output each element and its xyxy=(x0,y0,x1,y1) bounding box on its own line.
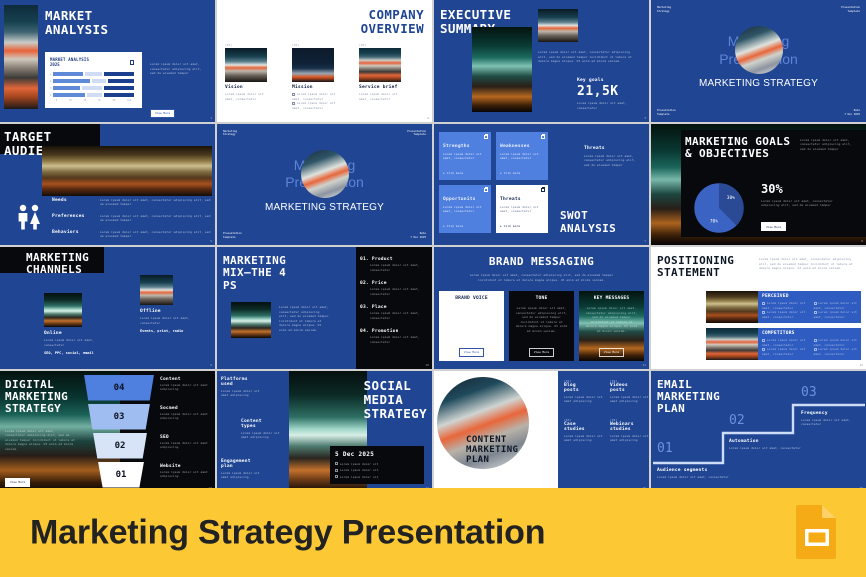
step-text: Lorem ipsum dolor sit amet, consectetur xyxy=(801,418,865,427)
google-slides-icon[interactable] xyxy=(794,503,840,563)
step-number: 02 xyxy=(115,441,126,451)
row-text: Lorem ipsum dolor sit amet, consectetur … xyxy=(100,230,212,239)
swot-side: Threats Lorem ipsum dolor sit amet, cons… xyxy=(584,146,642,168)
item-label: Place xyxy=(372,305,387,310)
overview-item: [01] Vision Lorem ipsum dolor sit amet, … xyxy=(225,43,280,110)
audience-row: Preferences Lorem ipsum dolor sit amet, … xyxy=(52,214,212,223)
body-text: Lorem ipsum dolor sit amet, consectetur … xyxy=(5,429,75,452)
slide-thumbnail-executive-summary[interactable]: EXECUTIVE SUMMARY Lorem ipsum dolor sit … xyxy=(434,0,649,122)
item-number: 02. xyxy=(360,281,369,286)
photo-placeholder xyxy=(225,48,267,82)
item-number: [01] xyxy=(225,43,280,47)
external-link-icon[interactable] xyxy=(130,60,135,65)
page-number: 9 xyxy=(210,363,212,367)
body-text: Lorem ipsum dolor sit amet, consectetur … xyxy=(800,138,858,152)
positioning-row[interactable]: COMPETITORS Lorem ipsum dolor sit amet, … xyxy=(706,328,861,360)
item-label: Mission xyxy=(292,85,347,90)
funnel-step: 02 SEO Lorem ipsum dolor sit amet adipis… xyxy=(84,433,214,459)
footer-right: Date 7 Dec 2025 xyxy=(844,109,860,117)
side-heading: Threats xyxy=(584,146,642,151)
view-more-button[interactable]: View More xyxy=(5,468,30,487)
item-text: Lorem ipsum dolor sit amet, consectetur xyxy=(359,92,403,101)
banner-title: Marketing Strategy Presentation xyxy=(30,513,545,552)
eyebrow-left: Marketing Strategy xyxy=(223,130,237,138)
item-text: Lorem ipsum dolor sit amet, consectetur xyxy=(370,263,428,272)
stat-text: Lorem ipsum dolor sit amet, consectetur xyxy=(577,101,637,110)
slide-thumbnail-title-cover-2[interactable]: Marketing Strategy Presentation Template… xyxy=(217,124,432,246)
step-text: Lorem ipsum dolor sit amet adipiscing xyxy=(160,470,208,479)
page-number: 3 xyxy=(644,116,646,120)
item-number: [02] xyxy=(292,43,347,47)
view-more-button[interactable]: View More xyxy=(761,213,836,232)
card-action[interactable]: ✣ Clik more xyxy=(500,171,520,176)
card-text: Lorem ipsum dolor sit amet, consectetur xyxy=(500,205,544,214)
messaging-card[interactable]: BRAND VOICE Lorem ipsum dolor sit amet, … xyxy=(439,291,504,361)
row-label: Preferences xyxy=(52,214,92,223)
step-text: Lorem ipsum dolor sit amet adipiscing xyxy=(160,383,208,392)
step-block: Audience segments Lorem ipsum dolor sit … xyxy=(657,468,729,480)
cmp-item: [04] Webinars studies Lorem ipsum dolor … xyxy=(610,418,649,443)
eyebrow-right: Presentation Template xyxy=(407,130,426,138)
swot-card[interactable]: Weaknesses Lorem ipsum dolor sit amet, c… xyxy=(496,132,548,180)
page-title: SWOT ANALYSIS xyxy=(560,210,616,235)
cmp-item: [02] Videos posts Lorem ipsum dolor sit … xyxy=(610,379,649,404)
overview-item: [02] Mission Lorem ipsum dolor sit amet,… xyxy=(292,43,347,110)
sms-item: Engagement plan Lorem ipsum dolor sit am… xyxy=(221,459,287,480)
page-title: MARKETING GOALS & OBJECTIVES xyxy=(685,136,790,161)
card-text: Lorem ipsum dolor sit amet, consectetur xyxy=(443,205,487,214)
step-label: Website xyxy=(160,464,208,469)
photo-placeholder xyxy=(44,293,82,327)
photo-placeholder xyxy=(292,48,334,82)
cover-title: MARKETING STRATEGY xyxy=(651,78,866,89)
audience-row: Needs Lorem ipsum dolor sit amet, consec… xyxy=(52,198,212,207)
stat-value: 30% xyxy=(761,182,836,196)
view-more-button[interactable]: View More xyxy=(150,99,175,118)
card-bullet: Lorem ipsum dolor sit xyxy=(335,468,419,473)
item-text: Lorem ipsum dolor sit amet, consectetur xyxy=(225,92,269,101)
row-bullet: Lorem ipsum dolor sit amet, consectetur xyxy=(762,347,806,356)
slide-thumbnail-marketing-channels[interactable]: MARKETING CHANNELS Online Lorem ipsum do… xyxy=(0,247,215,369)
eyebrow-left: Marketing Strategy xyxy=(657,6,671,14)
item-label: Blog posts xyxy=(564,383,604,393)
messaging-card[interactable]: TONE Lorem ipsum dolor sit amet, consect… xyxy=(509,291,574,361)
mix-item: 02.Price Lorem ipsum dolor sit amet, con… xyxy=(360,281,428,296)
card-label: KEY MESSAGES xyxy=(584,296,639,301)
photo-placeholder xyxy=(706,291,758,323)
item-tags: SEO, PPC, social, email xyxy=(44,351,114,355)
row-bullet: Lorem ipsum dolor sit amet, consectetur xyxy=(814,301,858,310)
page-title: SOCIAL MEDIA STRATEGY xyxy=(364,379,427,421)
item-label: Price xyxy=(372,281,387,286)
item-text: Lorem ipsum dolor sit amet adipiscing xyxy=(221,389,267,398)
photo-placeholder xyxy=(706,328,758,360)
card-label: Opportunits xyxy=(443,197,487,202)
cover-title: MARKETING STRATEGY xyxy=(217,202,432,213)
body-text: Lorem ipsum dolor sit amet, consectetur … xyxy=(279,305,329,332)
page-number: 12 xyxy=(859,363,863,367)
item-label: Promotion xyxy=(372,329,399,334)
card-bullet: Lorem ipsum dolor sit xyxy=(335,462,419,467)
item-number: 03. xyxy=(360,305,369,310)
photo-placeholder xyxy=(42,146,212,196)
funnel-step: 01 Website Lorem ipsum dolor sit amet ad… xyxy=(84,462,214,488)
item-text: Lorem ipsum dolor sit amet adipiscing xyxy=(241,431,285,440)
funnel-chart: 04 Content Lorem ipsum dolor sit amet ad… xyxy=(84,375,214,487)
body-text: Lorem ipsum dolor sit amet, consectetur … xyxy=(538,50,635,64)
item-number: [03] xyxy=(359,43,414,47)
stat-text: Lorem ipsum dolor sit amet, consectetur … xyxy=(761,199,836,208)
step-block: Automation Lorem ipsum dolor sit amet, c… xyxy=(729,439,801,451)
step-text: Lorem ipsum dolor sit amet, consectetur xyxy=(729,446,801,451)
item-bullet: Lorem ipsum dolor sit amet, consectetur xyxy=(292,101,338,110)
page-number: 10 xyxy=(425,363,429,367)
card-action[interactable]: ✣ Clik more xyxy=(443,171,463,176)
eyebrow-right: Presentation Template xyxy=(841,6,860,14)
card-year: 2025 xyxy=(50,62,137,67)
row-text: Lorem ipsum dolor sit amet, consectetur … xyxy=(100,214,212,223)
item-text: Lorem ipsum dolor sit amet adipiscing xyxy=(610,395,649,404)
step-number: 03 xyxy=(114,412,125,422)
page-title: MARKET ANALYSIS xyxy=(45,9,108,37)
slide-thumbnail-marketing-goals[interactable]: MARKETING GOALS & OBJECTIVES Lorem ipsum… xyxy=(651,124,866,246)
view-more-button[interactable]: View More xyxy=(509,338,574,357)
card-action[interactable]: ✣ Clik more xyxy=(500,224,520,229)
item-label: Platforms used xyxy=(221,377,287,387)
item-bullet: Lorem ipsum dolor sit amet, consectetur xyxy=(292,92,338,101)
photo-placeholder xyxy=(472,27,532,112)
stat-label: Key goals xyxy=(577,78,637,83)
item-label: Service brief xyxy=(359,85,414,90)
card-label: Strengths xyxy=(443,144,487,149)
card-label: BRAND VOICE xyxy=(444,296,499,301)
step-number: 01 xyxy=(657,441,673,456)
body-text: Lorem ipsum dolor sit amet, consectetur … xyxy=(759,257,854,271)
item-tags: Events, print, radio xyxy=(140,329,212,333)
external-link-icon[interactable] xyxy=(484,135,489,140)
row-bullet: Lorem ipsum dolor sit amet, consectetur xyxy=(762,310,806,319)
svg-text:70%: 70% xyxy=(710,218,718,224)
item-text: Lorem ipsum dolor sit amet adipiscing xyxy=(564,434,604,443)
slide-thumbnail-grid: MARKET ANALYSIS MARKET ANALYSIS 2025 1 2… xyxy=(0,0,866,492)
external-link-icon[interactable] xyxy=(541,188,546,193)
footer-right: Date 7 Dec 2025 xyxy=(410,232,426,240)
goals-stat: 30% Lorem ipsum dolor sit amet, consecte… xyxy=(761,182,836,232)
footer-left: Presentation Template xyxy=(223,232,242,240)
funnel-step: 03 Socmed Lorem ipsum dolor sit amet adi… xyxy=(84,404,214,430)
step-block: Frequency Lorem ipsum dolor sit amet, co… xyxy=(801,411,865,427)
channel-item: Online Lorem ipsum dolor sit amet, conse… xyxy=(44,293,114,355)
item-text: Lorem ipsum dolor sit amet, consectetur xyxy=(44,338,99,347)
page-title: BRAND MESSAGING xyxy=(434,256,649,268)
step-label: Audience segments xyxy=(657,468,729,473)
row-bullet: Lorem ipsum dolor sit amet, consectetur xyxy=(762,338,806,347)
photo-placeholder xyxy=(359,48,401,82)
photo-placeholder xyxy=(140,275,173,305)
card-label: TONE xyxy=(514,296,569,301)
item-text: Lorem ipsum dolor sit amet, consectetur xyxy=(370,287,428,296)
mix-item: 01.Product Lorem ipsum dolor sit amet, c… xyxy=(360,257,428,272)
item-text: Lorem ipsum dolor sit amet adipiscing xyxy=(221,471,267,480)
page-number: 5 xyxy=(210,239,212,243)
overview-item: [03] Service brief Lorem ipsum dolor sit… xyxy=(359,43,414,110)
slide-thumbnail-title-cover-1[interactable]: Marketing Strategy Presentation Template… xyxy=(651,0,866,122)
page-title: DIGITAL MARKETING STRATEGY xyxy=(5,379,68,416)
page-title: POSITIONING STATEMENT xyxy=(657,255,734,280)
slide-thumbnail-target-audience[interactable]: TARGET AUDIENCE Needs Lorem ipsum dolor … xyxy=(0,124,215,246)
mix-item: 04.Promotion Lorem ipsum dolor sit amet,… xyxy=(360,329,428,344)
item-text: Lorem ipsum dolor sit amet, consectetur xyxy=(370,311,428,320)
page-title: MARKETING MIX–THE 4 PS xyxy=(223,255,286,292)
slide-thumbnail-content-marketing-plan[interactable]: CONTENT MARKETING PLAN [01] Blog posts L… xyxy=(434,371,649,493)
card-label: Weaknesses xyxy=(500,144,544,149)
svg-text:30%: 30% xyxy=(727,194,735,200)
step-label: Automation xyxy=(729,439,801,444)
swot-card[interactable]: Strengths Lorem ipsum dolor sit amet, co… xyxy=(439,132,491,180)
side-text: Lorem ipsum dolor sit amet, consectetur … xyxy=(584,154,642,168)
cmp-item: [01] Blog posts Lorem ipsum dolor sit am… xyxy=(564,379,604,404)
item-text: Lorem ipsum dolor sit amet, consectetur xyxy=(370,335,428,344)
row-label: COMPETITORS xyxy=(762,331,857,336)
slide-thumbnail-company-overview[interactable]: COMPANY OVERVIEW [01] Vision Lorem ipsum… xyxy=(217,0,432,122)
page-number: 11 xyxy=(642,363,646,367)
footer-left: Presentation Template xyxy=(657,109,676,117)
item-text: Lorem ipsum dolor sit amet adipiscing xyxy=(564,395,604,404)
view-more-button[interactable]: View More xyxy=(439,338,504,357)
photo-circle xyxy=(301,150,349,198)
step-number: 02 xyxy=(729,413,745,428)
card-text: Lorem ipsum dolor sit amet, consectetur … xyxy=(514,306,569,333)
row-label: Behaviors xyxy=(52,230,92,239)
slide-thumbnail-swot-analysis[interactable]: Strengths Lorem ipsum dolor sit amet, co… xyxy=(434,124,649,246)
row-label: Needs xyxy=(52,198,92,207)
item-text: Lorem ipsum dolor sit amet adipiscing xyxy=(610,434,649,443)
step-label: SEO xyxy=(160,435,208,440)
goals-pie-chart: 30% 70% xyxy=(693,182,745,238)
slide-thumbnail-email-marketing-plan[interactable]: EMAIL MARKETING PLAN 01 Audience segment… xyxy=(651,371,866,493)
swot-card[interactable]: Threats Lorem ipsum dolor sit amet, cons… xyxy=(496,185,548,233)
messaging-card[interactable]: KEY MESSAGES Lorem ipsum dolor sit amet,… xyxy=(579,291,644,361)
card-text: Lorem ipsum dolor sit amet, consectetur … xyxy=(584,306,639,333)
item-label: Content types xyxy=(241,419,291,429)
external-link-icon[interactable] xyxy=(484,188,489,193)
slide-thumbnail-positioning-statement[interactable]: POSITIONING STATEMENT Lorem ipsum dolor … xyxy=(651,247,866,369)
audience-row: Behaviors Lorem ipsum dolor sit amet, co… xyxy=(52,230,212,239)
row-bullet: Lorem ipsum dolor sit amet, consectetur xyxy=(762,301,806,310)
slide-deck-preview-page: MARKET ANALYSIS MARKET ANALYSIS 2025 1 2… xyxy=(0,0,866,577)
positioning-row[interactable]: PERCEIVED Lorem ipsum dolor sit amet, co… xyxy=(706,291,861,323)
view-more-button[interactable]: View More xyxy=(579,338,644,357)
card-text: Lorem ipsum dolor sit amet, consectetur xyxy=(443,152,487,161)
body-text: Lorem ipsum dolor sit amet, consectetur … xyxy=(150,62,202,76)
market-analysis-card: MARKET ANALYSIS 2025 1 2 3 4 02040608010… xyxy=(45,52,142,108)
external-link-icon[interactable] xyxy=(541,135,546,140)
step-number: 04 xyxy=(114,383,125,393)
date-card: 5 Dec 2025 Lorem ipsum dolor sit Lorem i… xyxy=(330,446,424,485)
row-bullet: Lorem ipsum dolor sit amet, consectetur xyxy=(814,347,858,356)
slide-thumbnail-social-media-strategy[interactable]: Platforms used Lorem ipsum dolor sit ame… xyxy=(217,371,432,493)
photo-placeholder xyxy=(4,5,38,109)
page-number: 7 xyxy=(644,239,646,243)
item-label: Online xyxy=(44,331,114,336)
item-label: Videos posts xyxy=(610,383,649,393)
slide-thumbnail-marketing-mix[interactable]: MARKETING MIX–THE 4 PS Lorem ipsum dolor… xyxy=(217,247,432,369)
photo-circle xyxy=(735,26,783,74)
market-analysis-chart: 1 2 3 4 020406080100 xyxy=(50,72,137,102)
step-label: Frequency xyxy=(801,411,865,416)
item-label: Product xyxy=(372,257,393,262)
slide-thumbnail-digital-marketing-strategy[interactable]: DIGITAL MARKETING STRATEGY Lorem ipsum d… xyxy=(0,371,215,493)
row-bullet: Lorem ipsum dolor sit amet, consectetur xyxy=(814,338,858,347)
photo-placeholder xyxy=(231,302,271,338)
step-text: Lorem ipsum dolor sit amet adipiscing xyxy=(160,412,208,421)
item-label: Engagement plan xyxy=(221,459,287,469)
sms-item: Platforms used Lorem ipsum dolor sit ame… xyxy=(221,377,287,398)
step-label: Socmed xyxy=(160,406,208,411)
item-number: 04. xyxy=(360,329,369,334)
row-bullet: Lorem ipsum dolor sit amet, consectetur xyxy=(814,310,858,319)
slide-thumbnail-brand-messaging[interactable]: BRAND MESSAGING Lorem ipsum dolor sit am… xyxy=(434,247,649,369)
key-stat: Key goals 21,5K Lorem ipsum dolor sit am… xyxy=(577,78,637,110)
slide-thumbnail-market-analysis[interactable]: MARKET ANALYSIS MARKET ANALYSIS 2025 1 2… xyxy=(0,0,215,122)
step-text: Lorem ipsum dolor sit amet adipiscing xyxy=(160,441,208,450)
item-label: Webinars studies xyxy=(610,422,649,432)
step-text: Lorem ipsum dolor sit amet, consectetur xyxy=(657,475,729,480)
page-title: COMPANY OVERVIEW xyxy=(361,8,424,36)
item-label: Vision xyxy=(225,85,280,90)
channel-item: Offline Lorem ipsum dolor sit amet, cons… xyxy=(140,275,212,333)
card-action[interactable]: ✣ Clik more xyxy=(443,224,463,229)
photo-placeholder xyxy=(538,9,578,42)
item-number: 01. xyxy=(360,257,369,262)
item-text: Lorem ipsum dolor sit amet, consectetur xyxy=(140,316,195,325)
funnel-step: 04 Content Lorem ipsum dolor sit amet ad… xyxy=(84,375,214,401)
row-label: PERCEIVED xyxy=(762,294,857,299)
stat-value: 21,5K xyxy=(577,84,637,99)
mix-item: 03.Place Lorem ipsum dolor sit amet, con… xyxy=(360,305,428,320)
card-date: 5 Dec 2025 xyxy=(335,451,419,458)
item-label: Offline xyxy=(140,309,212,314)
card-text: Lorem ipsum dolor sit amet, consectetur xyxy=(500,152,544,161)
sms-item: Content types Lorem ipsum dolor sit amet… xyxy=(241,419,291,440)
item-label: Case studies xyxy=(564,422,604,432)
page-number: 2 xyxy=(427,116,429,120)
card-text: Lorem ipsum dolor sit amet, consectetur … xyxy=(444,306,499,333)
step-label: Content xyxy=(160,377,208,382)
people-icon xyxy=(14,204,44,234)
card-label: Threats xyxy=(500,197,544,202)
page-number: 1 xyxy=(210,116,212,120)
cmp-item: [03] Case studies Lorem ipsum dolor sit … xyxy=(564,418,604,443)
page-title: CONTENT MARKETING PLAN xyxy=(466,435,518,465)
subtitle: Lorem ipsum dolor sit amet, consectetur … xyxy=(468,273,615,282)
page-number: 8 xyxy=(861,239,863,243)
row-text: Lorem ipsum dolor sit amet, consectetur … xyxy=(100,198,212,207)
step-number: 01 xyxy=(116,470,127,480)
footer-banner: Marketing Strategy Presentation xyxy=(0,488,866,577)
card-bullet: Lorem ipsum dolor sit xyxy=(335,475,419,480)
page-title: MARKETING CHANNELS xyxy=(26,252,89,277)
step-number: 03 xyxy=(801,385,817,400)
swot-card[interactable]: Opportunits Lorem ipsum dolor sit amet, … xyxy=(439,185,491,233)
